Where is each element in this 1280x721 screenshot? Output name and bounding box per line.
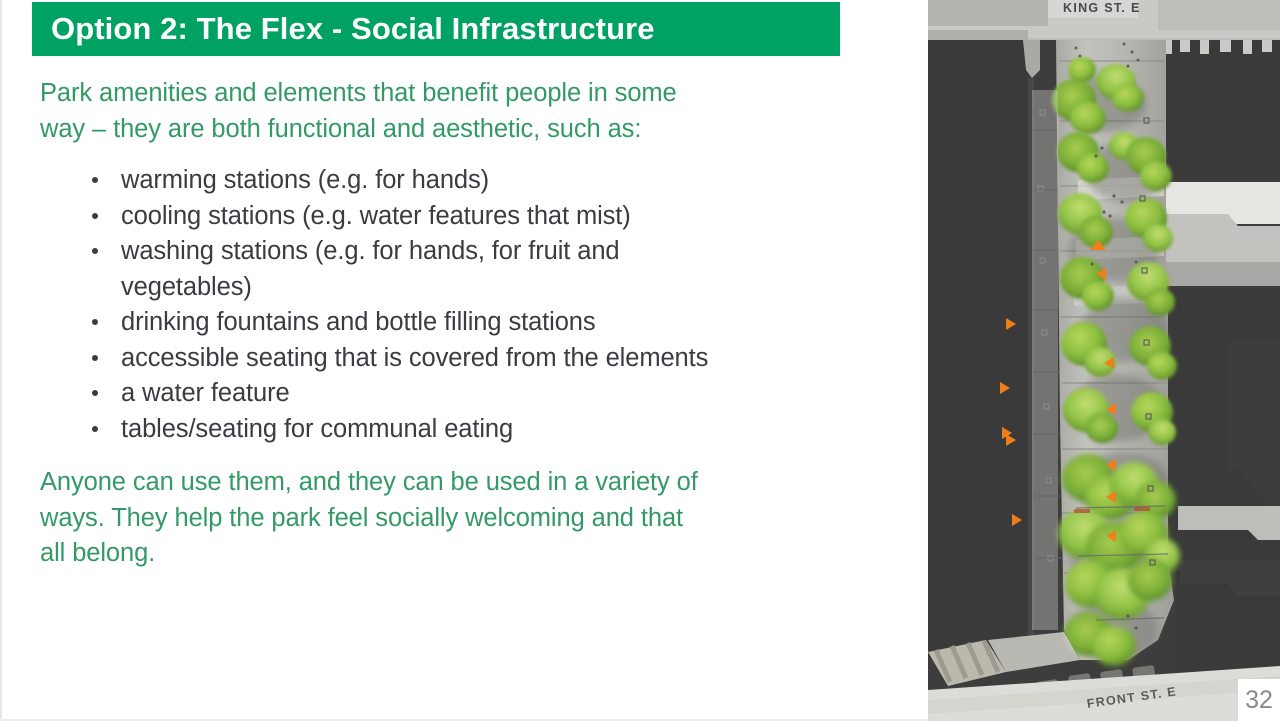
list-item-label: warming stations (e.g. for hands): [121, 166, 489, 194]
list-item-label: tables/seating for communal eating: [121, 415, 513, 443]
slide-number-box: 32: [1238, 679, 1280, 721]
list-item: washing stations (e.g. for hands, for fr…: [40, 234, 740, 305]
lead-paragraph: Park amenities and elements that benefit…: [40, 76, 720, 147]
bullet-dot-icon: [92, 248, 98, 254]
bullet-dot-icon: [92, 177, 98, 183]
slide-body-content: Park amenities and elements that benefit…: [40, 76, 740, 572]
street-label-king: KING ST. E: [1063, 1, 1141, 15]
list-item: cooling stations (e.g. water features th…: [40, 199, 740, 235]
slide-canvas: Option 2: The Flex - Social Infrastructu…: [0, 0, 1280, 721]
bullet-dot-icon: [92, 426, 98, 432]
bullet-dot-icon: [92, 355, 98, 361]
list-item: accessible seating that is covered from …: [40, 341, 740, 377]
list-item-label: a water feature: [121, 379, 290, 407]
list-item-label: accessible seating that is covered from …: [121, 344, 708, 372]
page-title: Option 2: The Flex - Social Infrastructu…: [32, 11, 655, 47]
list-item: tables/seating for communal eating: [40, 412, 740, 448]
bullet-dot-icon: [92, 319, 98, 325]
amenities-bullet-list: warming stations (e.g. for hands) coolin…: [40, 163, 740, 447]
page-edge-left: [0, 0, 2, 721]
list-item: a water feature: [40, 376, 740, 412]
list-item-label: cooling stations (e.g. water features th…: [121, 202, 631, 230]
list-item: warming stations (e.g. for hands): [40, 163, 740, 199]
bullet-dot-icon: [92, 213, 98, 219]
closing-paragraph: Anyone can use them, and they can be use…: [40, 465, 700, 572]
list-item: drinking fountains and bottle filling st…: [40, 305, 740, 341]
slide-title-banner: Option 2: The Flex - Social Infrastructu…: [32, 2, 840, 56]
slide-number: 32: [1245, 686, 1273, 715]
list-item-label: washing stations (e.g. for hands, for fr…: [121, 237, 620, 301]
site-plan-image: [928, 0, 1280, 721]
site-plan-svg: [928, 0, 1280, 721]
bullet-dot-icon: [92, 390, 98, 396]
list-item-label: drinking fountains and bottle filling st…: [121, 308, 596, 336]
